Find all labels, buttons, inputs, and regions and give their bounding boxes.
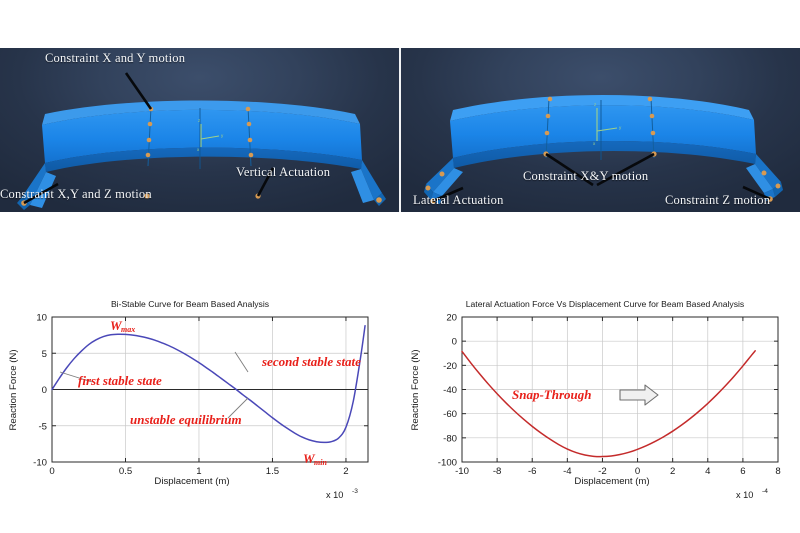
svg-text:-8: -8 — [493, 466, 502, 477]
chart-tick-labels: -10-8-6-4-202468-100-80-60-40-20020 — [438, 313, 781, 478]
annotation-wmax: W max — [110, 318, 135, 334]
annotation-second-stable-state: second stable state — [261, 354, 361, 369]
svg-text:-40: -40 — [443, 385, 457, 396]
svg-text:0: 0 — [49, 466, 54, 477]
constraint-z-marker-a — [762, 171, 767, 176]
lateral-force-curve-svg: Lateral Actuation Force Vs Displacement … — [400, 285, 800, 515]
svg-text:2: 2 — [670, 466, 675, 477]
chart-x-multiplier: x 10 — [736, 490, 753, 500]
chart-title: Lateral Actuation Force Vs Displacement … — [466, 299, 744, 309]
cad-panel-vertical-actuation: z y x Constraint X and Y motion Vertical… — [0, 48, 399, 212]
annotation-unstable-equilibrium: unstable equilibrium — [130, 412, 242, 427]
figure-root: z y x Constraint X and Y motion Vertical… — [0, 0, 800, 533]
svg-text:-5: -5 — [38, 421, 47, 432]
constraint-z-marker-b — [776, 184, 781, 189]
svg-text:1.5: 1.5 — [266, 466, 279, 477]
annotation-first-stable-state: first stable state — [78, 373, 162, 388]
chart-xlabel: Displacement (m) — [574, 476, 649, 487]
lateral-force-curve-line — [462, 351, 755, 457]
lateral-actuation-model-graphic: z y x — [401, 48, 800, 212]
lateral-marker-a — [440, 172, 445, 177]
svg-text:0: 0 — [452, 337, 457, 348]
chart-lateral-force-displacement: Lateral Actuation Force Vs Displacement … — [400, 285, 800, 515]
svg-text:max: max — [121, 325, 135, 334]
svg-text:5: 5 — [42, 349, 47, 360]
svg-text:-10: -10 — [33, 458, 47, 469]
svg-text:4: 4 — [705, 466, 711, 477]
lateral-marker-b — [426, 186, 431, 191]
constraint-xy-motion-label: Constraint X and Y motion — [45, 52, 185, 65]
chart-bistable-curve: Bi-Stable Curve for Beam Based Analysis … — [0, 285, 400, 515]
constraint-z-motion-label: Constraint Z motion — [665, 194, 770, 207]
annotation-wmin: W min — [303, 451, 327, 467]
constraint-xyz-motion-label: Constraint X,Y and Z motion — [0, 188, 152, 201]
svg-text:-80: -80 — [443, 433, 457, 444]
svg-text:10: 10 — [36, 313, 47, 324]
constraint-marker-right-end — [376, 197, 382, 203]
svg-text:-4: -4 — [563, 466, 572, 477]
svg-text:-100: -100 — [438, 458, 457, 469]
chart-ylabel: Reaction Force (N) — [410, 349, 421, 430]
svg-text:-20: -20 — [443, 361, 457, 372]
svg-text:-6: -6 — [528, 466, 537, 477]
leader-second-stable — [235, 352, 248, 372]
snap-through-arrow-icon — [620, 385, 658, 405]
cad-panel-lateral-actuation: z y x Constraint X&Y motion Lateral Actu… — [401, 48, 800, 212]
chart-xlabel: Displacement (m) — [154, 476, 229, 487]
lateral-actuation-label: Lateral Actuation — [413, 194, 504, 207]
bistable-curve-svg: Bi-Stable Curve for Beam Based Analysis … — [0, 285, 400, 515]
chart-ylabel: Reaction Force (N) — [8, 349, 19, 430]
svg-text:min: min — [314, 458, 327, 467]
cad-panel-row: z y x Constraint X and Y motion Vertical… — [0, 48, 800, 212]
vertical-actuation-label: Vertical Actuation — [236, 166, 330, 179]
svg-text:6: 6 — [740, 466, 745, 477]
chart-x-multiplier-exponent: -3 — [352, 488, 358, 495]
svg-text:0.5: 0.5 — [119, 466, 132, 477]
chart-tick-labels: 00.511.52-10-50510 — [33, 313, 349, 478]
svg-text:2: 2 — [343, 466, 348, 477]
svg-text:8: 8 — [775, 466, 780, 477]
svg-text:-10: -10 — [455, 466, 469, 477]
chart-title: Bi-Stable Curve for Beam Based Analysis — [111, 299, 269, 309]
svg-text:-60: -60 — [443, 409, 457, 420]
svg-text:0: 0 — [42, 385, 47, 396]
chart-x-multiplier: x 10 — [326, 490, 343, 500]
svg-text:20: 20 — [446, 313, 457, 324]
chart-x-multiplier-exponent: -4 — [762, 488, 768, 495]
chart-row: Bi-Stable Curve for Beam Based Analysis … — [0, 285, 800, 515]
constraint-xy-motion-label: Constraint X&Y motion — [523, 170, 648, 183]
annotation-snap-through: Snap-Through — [512, 387, 591, 402]
